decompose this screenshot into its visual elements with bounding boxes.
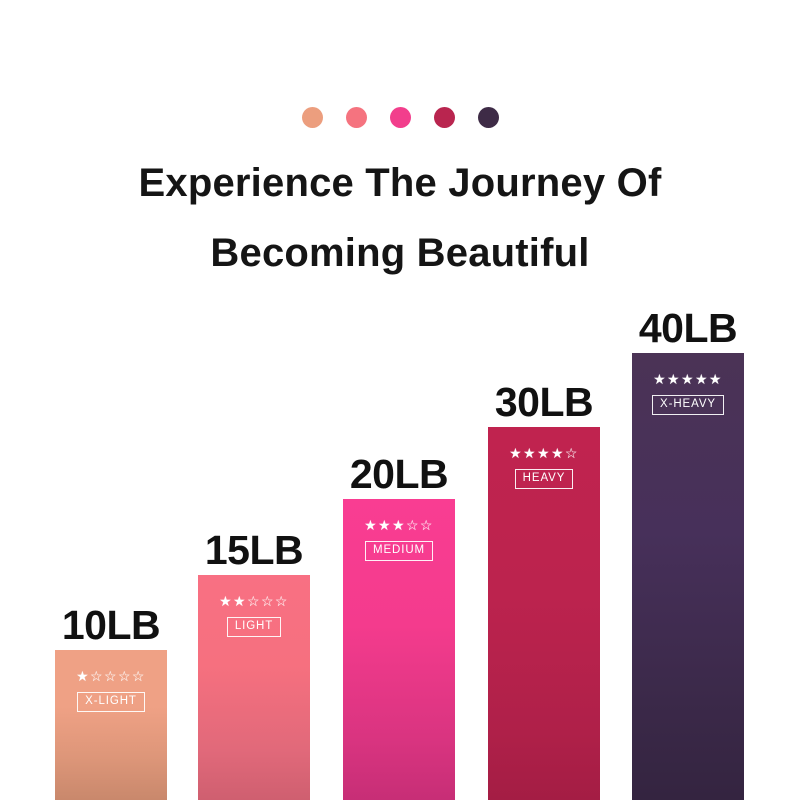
level-badge: X-LIGHT [77, 692, 145, 712]
star-rating-icon: ★★★★★ [653, 372, 723, 386]
level-badge: HEAVY [515, 469, 574, 489]
bar-weight-label: 20LB [350, 454, 448, 495]
level-badge: X-HEAVY [652, 395, 724, 415]
bar-column-10lb[interactable]: 10LB ★☆☆☆☆ X-LIGHT [55, 650, 167, 800]
bar-column-40lb[interactable]: 40LB ★★★★★ X-HEAVY [632, 353, 744, 800]
bar-weight-label: 40LB [639, 308, 737, 349]
bar-10lb[interactable]: ★☆☆☆☆ X-LIGHT [55, 650, 167, 800]
bar-weight-label: 30LB [495, 382, 593, 423]
bar-column-20lb[interactable]: 20LB ★★★☆☆ MEDIUM [343, 499, 455, 800]
star-rating-icon: ★☆☆☆☆ [76, 669, 146, 683]
level-badge: LIGHT [227, 617, 281, 637]
bar-20lb[interactable]: ★★★☆☆ MEDIUM [343, 499, 455, 800]
star-rating-icon: ★★★★☆ [509, 446, 579, 460]
bar-weight-label: 10LB [62, 605, 160, 646]
star-rating-icon: ★★☆☆☆ [219, 594, 289, 608]
bar-column-30lb[interactable]: 30LB ★★★★☆ HEAVY [488, 427, 600, 800]
bar-30lb[interactable]: ★★★★☆ HEAVY [488, 427, 600, 800]
bar-40lb[interactable]: ★★★★★ X-HEAVY [632, 353, 744, 800]
bar-15lb[interactable]: ★★☆☆☆ LIGHT [198, 575, 310, 800]
resistance-bar-chart: 10LB ★☆☆☆☆ X-LIGHT 15LB ★★☆☆☆ LIGHT 20LB… [0, 0, 800, 800]
level-badge: MEDIUM [365, 541, 433, 561]
promo-graphic: Experience The Journey Of Becoming Beaut… [0, 0, 800, 800]
star-rating-icon: ★★★☆☆ [364, 518, 434, 532]
bar-weight-label: 15LB [205, 530, 303, 571]
bar-column-15lb[interactable]: 15LB ★★☆☆☆ LIGHT [198, 575, 310, 800]
